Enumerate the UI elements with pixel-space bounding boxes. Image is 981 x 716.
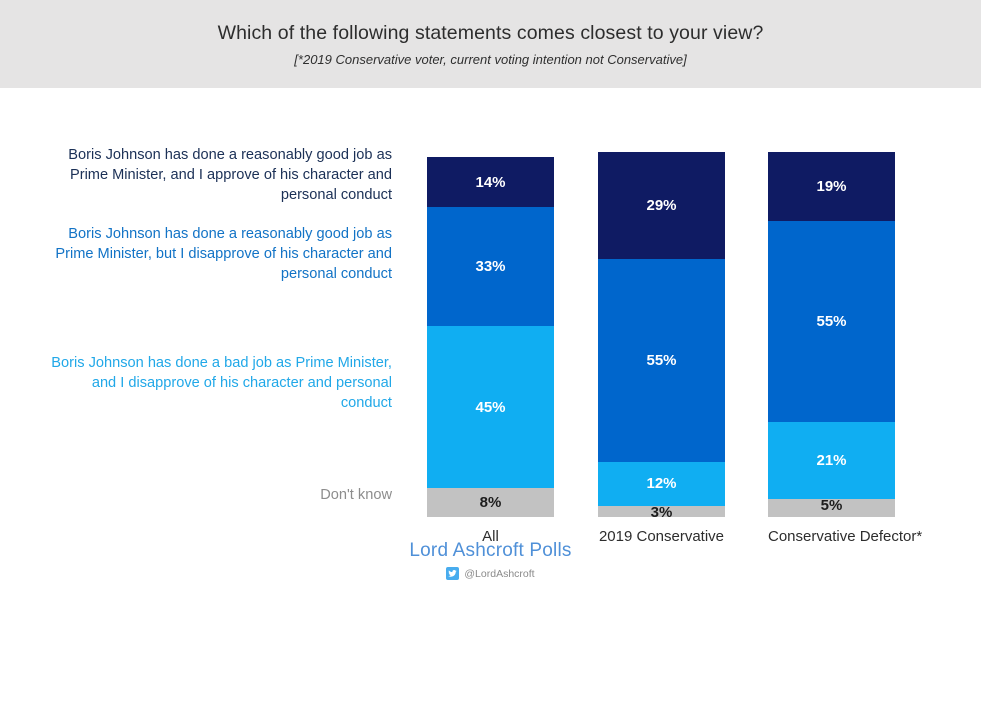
bar-segment: 5% — [768, 499, 895, 517]
bar-column: 19%55%21%5% — [768, 152, 895, 517]
bar-segment: 45% — [427, 326, 554, 488]
bar-segment: 33% — [427, 207, 554, 326]
bar-segment: 21% — [768, 422, 895, 499]
bar-column: 14%33%45%8% — [427, 157, 554, 517]
bar-column: 29%55%12%3% — [598, 152, 725, 517]
bar-segment: 3% — [598, 506, 725, 517]
twitter-handle-row[interactable]: @LordAshcroft — [446, 567, 534, 580]
bar-segment: 55% — [598, 259, 725, 462]
twitter-bird-icon — [446, 567, 459, 580]
bar-segment-value: 21% — [816, 453, 846, 468]
legend-label-disapprove-character: Boris Johnson has done a reasonably good… — [40, 224, 392, 284]
chart-title: Which of the following statements comes … — [0, 22, 981, 45]
bar-segment-value: 29% — [646, 198, 676, 213]
bar-segment: 19% — [768, 152, 895, 221]
footer-branding: Lord Ashcroft Polls @LordAshcroft — [0, 540, 981, 583]
bar-segment-value: 19% — [816, 179, 846, 194]
twitter-handle: @LordAshcroft — [464, 568, 534, 580]
bar-segment: 14% — [427, 157, 554, 207]
bar-segment: 55% — [768, 221, 895, 422]
bar-segment-value: 45% — [475, 400, 505, 415]
bar-segment-value: 55% — [646, 353, 676, 368]
bar-segment: 29% — [598, 152, 725, 259]
bar-segment-value: 3% — [651, 505, 673, 520]
bar-segment-value: 5% — [821, 498, 843, 513]
legend-label-bad-job: Boris Johnson has done a bad job as Prim… — [40, 353, 392, 413]
bar-segment-value: 55% — [816, 314, 846, 329]
bar-segment-value: 14% — [475, 175, 505, 190]
chart-plot-area: Boris Johnson has done a reasonably good… — [0, 88, 981, 716]
bar-segment-value: 33% — [475, 259, 505, 274]
bar-segment: 8% — [427, 488, 554, 517]
bar-segment-value: 12% — [646, 476, 676, 491]
bar-segment-value: 8% — [480, 495, 502, 510]
brand-name: Lord Ashcroft Polls — [0, 540, 981, 562]
bar-segment: 12% — [598, 462, 725, 506]
legend-label-dont-know: Don't know — [40, 485, 392, 505]
legend-label-approve-character: Boris Johnson has done a reasonably good… — [40, 145, 392, 205]
chart-subtitle: [*2019 Conservative voter, current votin… — [0, 52, 981, 67]
